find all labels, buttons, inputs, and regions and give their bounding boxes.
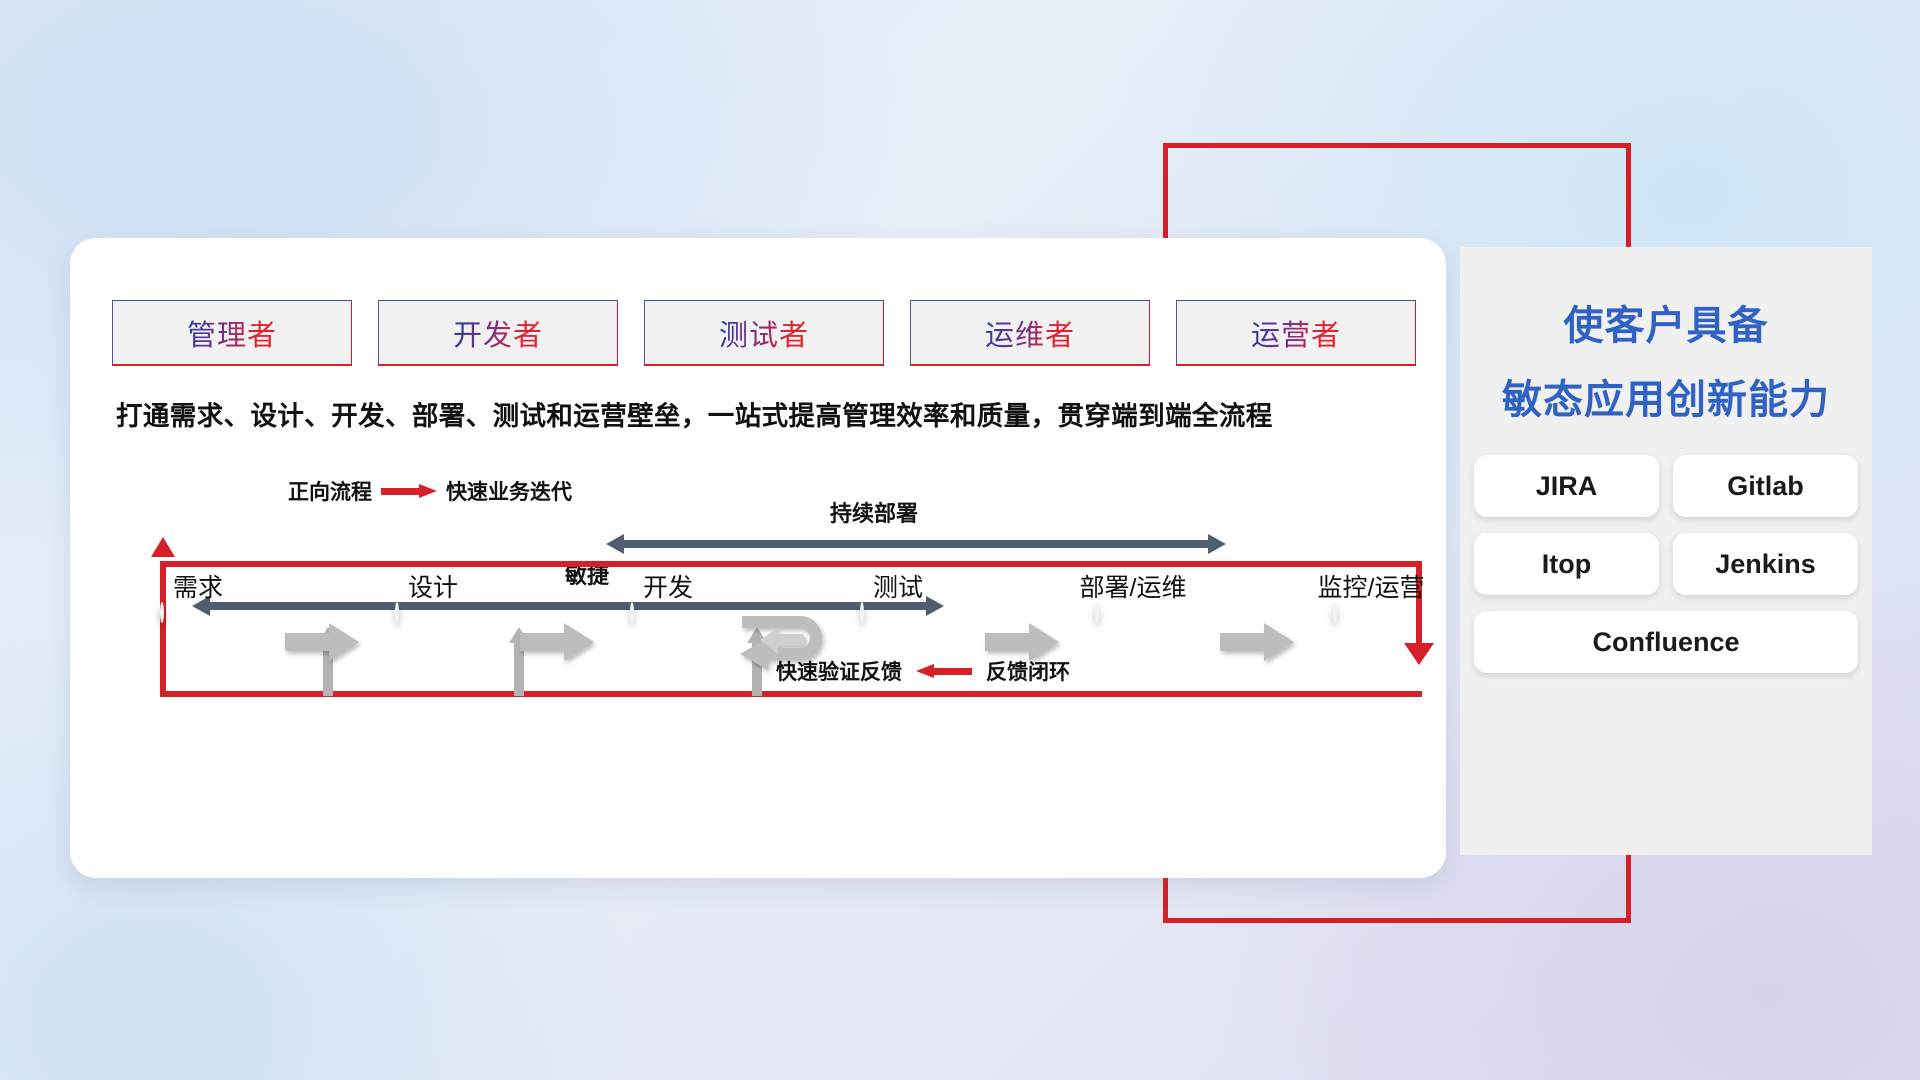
arrow-right-icon: [520, 623, 594, 661]
main-card: 管理者 开发者 测试者 运维者 运营者 打通需求、设计、开发、部署、测试和运营壁…: [70, 238, 1446, 878]
continuous-deploy-span-arrow: [606, 534, 1226, 554]
role-box-ops[interactable]: 运维者: [910, 300, 1150, 366]
node-circle: [1095, 602, 1099, 623]
panel-title: 使客户具备 敏态应用创新能力: [1460, 293, 1872, 425]
role-box-tester[interactable]: 测试者: [644, 300, 884, 366]
pipeline-node-deploy-ops[interactable]: 部署/运维: [1095, 604, 1171, 680]
arrow-right-icon: [285, 623, 359, 661]
connector-arrow-right-2: [520, 623, 594, 661]
pipeline-node-develop[interactable]: 开发: [630, 604, 706, 680]
panel-title-line1: 使客户具备: [1460, 293, 1872, 351]
pipeline-node-label: 监控/运营: [1318, 568, 1425, 604]
pipeline-node-monitor-operate[interactable]: 监控/运营: [1333, 604, 1409, 680]
span-bar: [622, 540, 1210, 548]
pipeline-node-label: 开发: [643, 568, 693, 604]
connector-arrow-right-4: [1220, 623, 1294, 661]
span-bar: [208, 602, 928, 610]
role-label: 运营者: [1251, 312, 1341, 354]
capability-panel: 使客户具备 敏态应用创新能力 JIRA Gitlab Itop Jenkins …: [1460, 247, 1872, 855]
role-box-developer[interactable]: 开发者: [378, 300, 618, 366]
node-circle: [1333, 602, 1337, 623]
arrow-right-icon: [1220, 623, 1294, 661]
outer-connector-bottom: [1163, 918, 1631, 923]
outer-connector-top: [1163, 143, 1631, 148]
arrow-right-red-icon: [381, 484, 437, 498]
panel-title-line2: 敏态应用创新能力: [1460, 367, 1872, 425]
feedback-legend: 快速验证反馈 反馈闭环: [776, 656, 1070, 686]
tool-tag-jenkins[interactable]: Jenkins: [1673, 533, 1858, 595]
tool-tag-jira[interactable]: JIRA: [1474, 455, 1659, 517]
tool-tag-gitlab[interactable]: Gitlab: [1673, 455, 1858, 517]
role-label: 测试者: [719, 312, 809, 354]
node-circle: [860, 602, 864, 623]
pipeline-node-label: 部署/运维: [1080, 568, 1187, 604]
feedback-right-label: 反馈闭环: [986, 656, 1070, 686]
forward-flow-legend: 正向流程 快速业务迭代: [288, 476, 572, 506]
arrow-left-red-icon: [916, 664, 972, 678]
node-circle: [160, 602, 164, 623]
feedback-loop-top: [160, 561, 1422, 567]
feedback-left-label: 快速验证反馈: [776, 656, 902, 686]
description-text: 打通需求、设计、开发、部署、测试和运营壁垒，一站式提高管理效率和质量，贯穿端到端…: [116, 394, 1416, 433]
pipeline-node-requirements[interactable]: 需求: [160, 604, 236, 680]
pipeline-node-label: 测试: [873, 568, 923, 604]
node-circle: [395, 602, 399, 623]
pipeline-node-label: 设计: [408, 568, 458, 604]
role-label: 开发者: [453, 312, 543, 354]
pipeline-node-design[interactable]: 设计: [395, 604, 471, 680]
node-circle: [630, 602, 634, 623]
feedback-loop-bottom: [160, 691, 1422, 697]
continuous-deploy-label: 持续部署: [830, 496, 918, 528]
connector-arrow-right-1: [285, 623, 359, 661]
diagram-canvas: 管理者 开发者 测试者 运维者 运营者 打通需求、设计、开发、部署、测试和运营壁…: [0, 0, 1920, 1080]
tool-tag-list: JIRA Gitlab Itop Jenkins Confluence: [1460, 455, 1872, 673]
role-box-row: 管理者 开发者 测试者 运维者 运营者: [112, 300, 1416, 366]
pipeline-node-label: 需求: [173, 568, 223, 604]
role-box-manager[interactable]: 管理者: [112, 300, 352, 366]
agile-span-arrow: [192, 596, 944, 616]
role-box-operator[interactable]: 运营者: [1176, 300, 1416, 366]
forward-flow-right-label: 快速业务迭代: [446, 476, 572, 506]
feedback-loop-arrow-up-icon: [151, 537, 175, 557]
tool-tag-confluence[interactable]: Confluence: [1474, 611, 1858, 673]
role-label: 管理者: [187, 312, 277, 354]
forward-flow-left-label: 正向流程: [288, 476, 372, 506]
role-label: 运维者: [985, 312, 1075, 354]
arrow-head-right-icon: [1208, 534, 1226, 554]
tool-tag-itop[interactable]: Itop: [1474, 533, 1659, 595]
